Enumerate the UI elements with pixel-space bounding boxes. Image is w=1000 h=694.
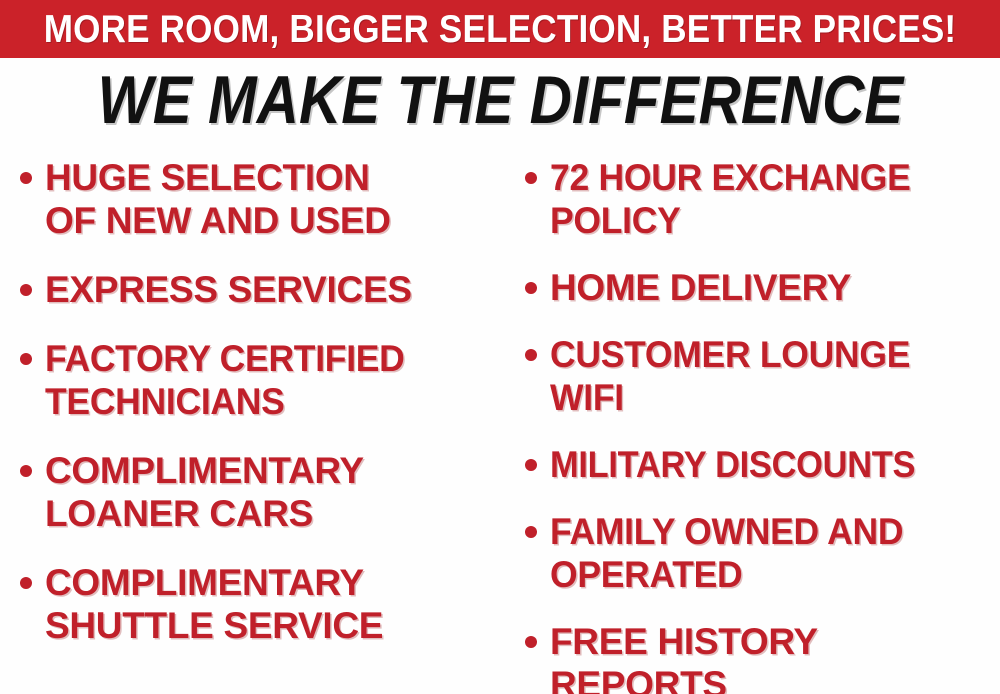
list-item-label: FAMILY OWNED AND OPERATED xyxy=(550,510,903,596)
list-item-line2: WIFI xyxy=(550,377,624,418)
benefits-column-left: HUGE SELECTION OF NEW AND USED EXPRESS S… xyxy=(0,156,505,694)
list-item-line1: COMPLIMENTARY xyxy=(45,450,364,491)
bullet-dot-icon xyxy=(525,459,537,471)
bullet-dot-icon xyxy=(525,349,537,361)
bullet-dot-icon xyxy=(525,526,537,538)
list-item-label: EXPRESS SERVICES xyxy=(45,268,412,311)
list-item-line2: TECHNICIANS xyxy=(45,381,285,422)
bullet-dot-icon xyxy=(20,353,32,365)
banner-headline: MORE ROOM, BIGGER SELECTION, BETTER PRIC… xyxy=(44,10,957,49)
list-item-line1: FAMILY OWNED AND xyxy=(550,511,903,552)
promo-poster: MORE ROOM, BIGGER SELECTION, BETTER PRIC… xyxy=(0,0,1000,694)
promo-banner: MORE ROOM, BIGGER SELECTION, BETTER PRIC… xyxy=(0,0,1000,58)
bullet-dot-icon xyxy=(525,282,537,294)
list-item-line2: OF NEW AND USED xyxy=(45,200,391,241)
benefits-columns: HUGE SELECTION OF NEW AND USED EXPRESS S… xyxy=(0,156,1000,694)
bullet-dot-icon xyxy=(20,284,32,296)
bullet-dot-icon xyxy=(20,465,32,477)
list-item-label: COMPLIMENTARY LOANER CARS xyxy=(45,449,364,535)
list-item-line2: POLICY xyxy=(550,200,681,241)
page-title: WE MAKE THE DIFFERENCE xyxy=(0,64,1000,136)
list-item-line1: HOME DELIVERY xyxy=(550,267,851,308)
list-item: CUSTOMER LOUNGE WIFI xyxy=(525,333,998,419)
list-item-line2: OPERATED xyxy=(550,554,742,595)
list-item-label: 72 HOUR EXCHANGE POLICY xyxy=(550,156,911,242)
list-item-line1: MILITARY DISCOUNTS xyxy=(550,444,915,485)
list-item-line2: SHUTTLE SERVICE xyxy=(45,605,383,646)
list-item: FAMILY OWNED AND OPERATED xyxy=(525,510,998,596)
list-item-label: COMPLIMENTARY SHUTTLE SERVICE xyxy=(45,561,383,647)
list-item-line1: 72 HOUR EXCHANGE xyxy=(550,157,911,198)
list-item: EXPRESS SERVICES xyxy=(20,268,501,311)
list-item: MILITARY DISCOUNTS xyxy=(525,443,998,486)
bullet-dot-icon xyxy=(525,636,537,648)
list-item: HOME DELIVERY xyxy=(525,266,998,309)
list-item-line1: CUSTOMER LOUNGE xyxy=(550,334,910,375)
benefits-column-right: 72 HOUR EXCHANGE POLICY HOME DELIVERY CU… xyxy=(505,156,1000,694)
list-item: HUGE SELECTION OF NEW AND USED xyxy=(20,156,501,242)
list-item: COMPLIMENTARY LOANER CARS xyxy=(20,449,501,535)
list-item-label: CUSTOMER LOUNGE WIFI xyxy=(550,333,910,419)
list-item-line1: EXPRESS SERVICES xyxy=(45,269,412,310)
page-title-text: WE MAKE THE DIFFERENCE xyxy=(97,64,903,136)
list-item-label: HUGE SELECTION OF NEW AND USED xyxy=(45,156,391,242)
list-item-line1: FACTORY CERTIFIED xyxy=(45,338,405,379)
list-item-label: MILITARY DISCOUNTS xyxy=(550,443,915,486)
bullet-dot-icon xyxy=(20,172,32,184)
list-item-line1: COMPLIMENTARY xyxy=(45,562,364,603)
bullet-dot-icon xyxy=(525,172,537,184)
list-item-label: FACTORY CERTIFIED TECHNICIANS xyxy=(45,337,405,423)
list-item: COMPLIMENTARY SHUTTLE SERVICE xyxy=(20,561,501,647)
list-item-label: HOME DELIVERY xyxy=(550,266,851,309)
list-item-line2: REPORTS xyxy=(550,664,727,694)
list-item: FREE HISTORY REPORTS xyxy=(525,620,998,694)
list-item-line2: LOANER CARS xyxy=(45,493,313,534)
list-item-label: FREE HISTORY REPORTS xyxy=(550,620,818,694)
list-item: 72 HOUR EXCHANGE POLICY xyxy=(525,156,998,242)
list-item: FACTORY CERTIFIED TECHNICIANS xyxy=(20,337,501,423)
list-item-line1: FREE HISTORY xyxy=(550,621,818,662)
bullet-dot-icon xyxy=(20,577,32,589)
list-item-line1: HUGE SELECTION xyxy=(45,157,370,198)
